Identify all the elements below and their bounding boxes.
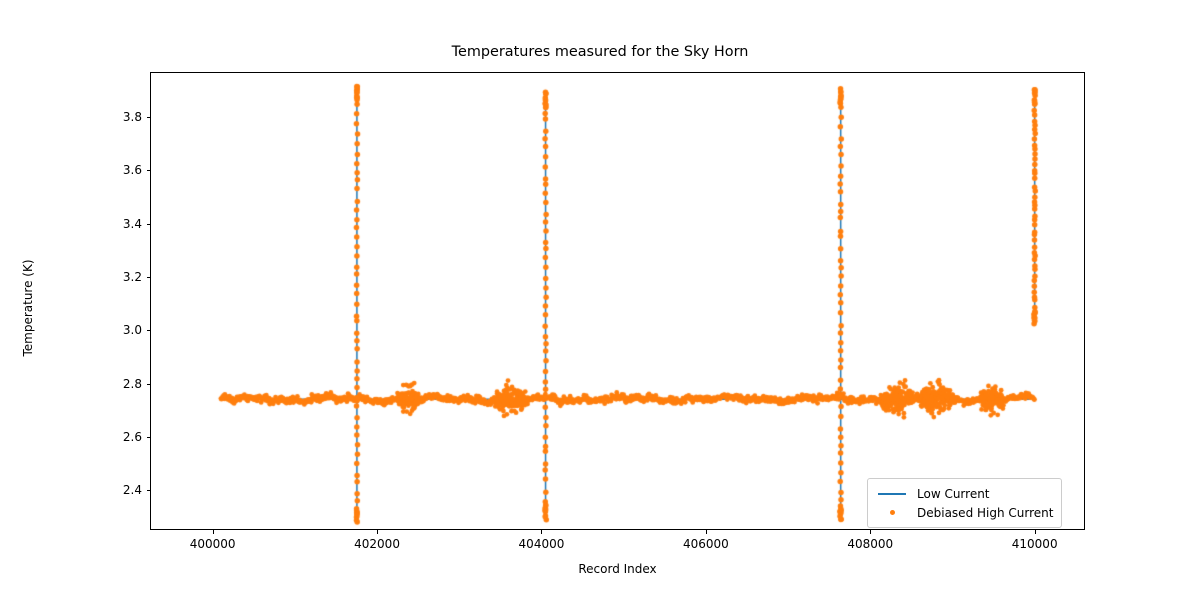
x-tick-label: 400000 <box>190 537 236 551</box>
y-tick-mark <box>147 277 151 278</box>
x-tick-label: 404000 <box>519 537 565 551</box>
legend-item-low-current: Low Current <box>875 484 1053 503</box>
x-tick-label: 406000 <box>683 537 729 551</box>
x-tick-mark <box>377 530 378 534</box>
y-tick-label: 3.0 <box>100 323 142 337</box>
x-tick-label: 410000 <box>1012 537 1058 551</box>
y-tick-label: 3.4 <box>100 217 142 231</box>
y-tick-label: 2.6 <box>100 430 142 444</box>
y-tick-mark <box>147 490 151 491</box>
legend-label-debiased-high-current: Debiased High Current <box>917 506 1053 520</box>
chart-title: Temperatures measured for the Sky Horn <box>0 44 1200 60</box>
chart-legend: Low Current Debiased High Current <box>867 478 1062 528</box>
x-tick-mark <box>1035 530 1036 534</box>
y-tick-label: 3.6 <box>100 163 142 177</box>
x-tick-mark <box>870 530 871 534</box>
legend-line-swatch-icon <box>875 493 909 495</box>
plot-canvas <box>151 73 1084 529</box>
y-tick-label: 3.2 <box>100 270 142 284</box>
y-tick-mark <box>147 330 151 331</box>
y-tick-mark <box>147 384 151 385</box>
x-tick-mark <box>541 530 542 534</box>
x-tick-label: 408000 <box>847 537 893 551</box>
y-tick-mark <box>147 437 151 438</box>
x-tick-mark <box>706 530 707 534</box>
y-tick-mark <box>147 117 151 118</box>
y-tick-label: 2.4 <box>100 483 142 497</box>
x-axis-label: Record Index <box>150 562 1085 576</box>
y-tick-label: 2.8 <box>100 377 142 391</box>
y-tick-mark <box>147 170 151 171</box>
x-tick-label: 402000 <box>354 537 400 551</box>
legend-label-low-current: Low Current <box>917 487 990 501</box>
x-tick-mark <box>213 530 214 534</box>
y-tick-label: 3.8 <box>100 110 142 124</box>
matplotlib-figure: Temperatures measured for the Sky Horn T… <box>0 0 1200 600</box>
y-axis-label: Temperature (K) <box>21 178 35 438</box>
legend-dot-swatch-icon <box>875 510 909 515</box>
y-tick-mark <box>147 224 151 225</box>
legend-item-debiased-high-current: Debiased High Current <box>875 503 1053 522</box>
plot-axes <box>150 72 1085 530</box>
